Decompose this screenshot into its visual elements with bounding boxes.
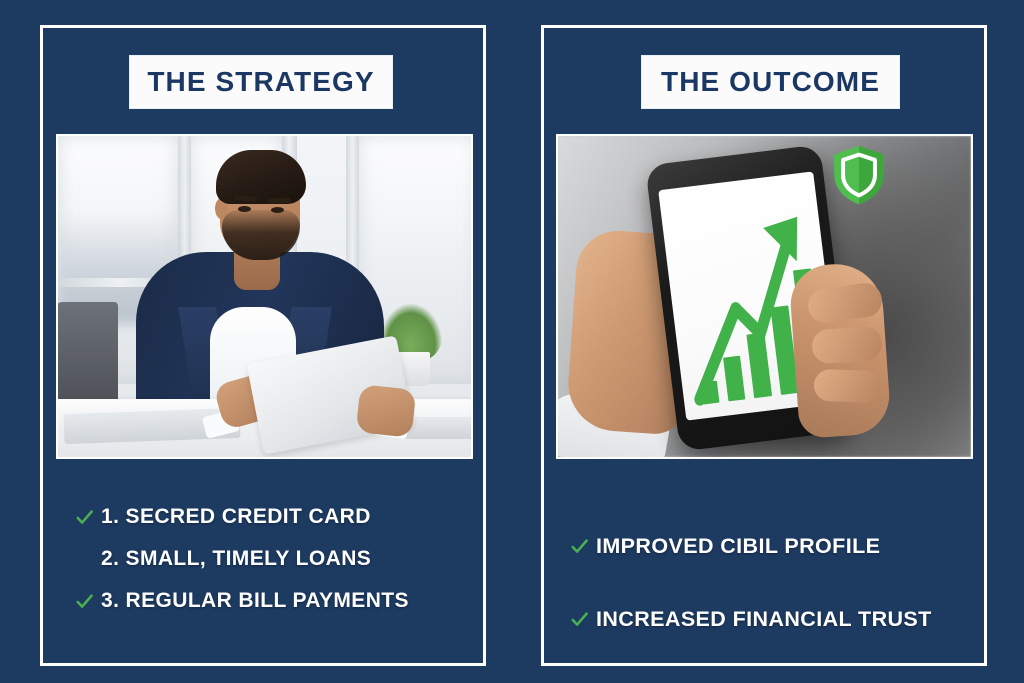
photo-canvas-outcome (558, 136, 971, 457)
businessman-with-tablet-photo (56, 134, 473, 459)
panel-strategy-title-plate: THE STRATEGY (129, 55, 393, 109)
person-hand-right (356, 384, 417, 438)
shield-icon (830, 144, 888, 206)
list-item-label: 2. SMALL, TIMELY LOANS (101, 547, 371, 571)
poster-canvas: THE STRATEGY (0, 0, 1024, 683)
outcome-bullet-list: IMPROVED CIBIL PROFILE INCREASED FINANCI… (562, 510, 984, 656)
list-item[interactable]: 3. REGULAR BILL PAYMENTS (67, 580, 483, 622)
hand-holding-phone-growth-chart-photo (556, 134, 973, 459)
check-icon (562, 537, 596, 556)
list-item[interactable]: 1. SECRED CREDIT CARD (67, 496, 483, 538)
list-item[interactable]: INCREASED FINANCIAL TRUST (562, 583, 984, 656)
notebook-papers (404, 417, 473, 439)
list-item-label: IMPROVED CIBIL PROFILE (596, 534, 880, 559)
finger-ring (813, 369, 880, 403)
check-icon (67, 508, 101, 527)
list-item-label: 3. REGULAR BILL PAYMENTS (101, 589, 409, 613)
check-icon (67, 592, 101, 611)
person-eye-left (238, 206, 251, 212)
list-item-label: 1. SECRED CREDIT CARD (101, 505, 371, 529)
photo-canvas-strategy (58, 136, 471, 457)
strategy-bullet-list: 1. SECRED CREDIT CARD 2. SMALL, TIMELY L… (67, 496, 483, 622)
panel-outcome-title-plate: THE OUTCOME (641, 55, 900, 109)
panel-outcome-title: THE OUTCOME (661, 66, 880, 98)
panel-outcome: THE OUTCOME (541, 25, 987, 666)
check-icon (562, 610, 596, 629)
person-eye-right (271, 207, 284, 213)
list-item[interactable]: IMPROVED CIBIL PROFILE (562, 510, 984, 583)
list-item-label: INCREASED FINANCIAL TRUST (596, 607, 932, 632)
finger-middle (811, 326, 883, 365)
panel-strategy: THE STRATEGY (40, 25, 486, 666)
list-item[interactable]: 2. SMALL, TIMELY LOANS (67, 538, 483, 580)
person-hair (216, 150, 306, 204)
panel-strategy-title: THE STRATEGY (147, 66, 374, 98)
